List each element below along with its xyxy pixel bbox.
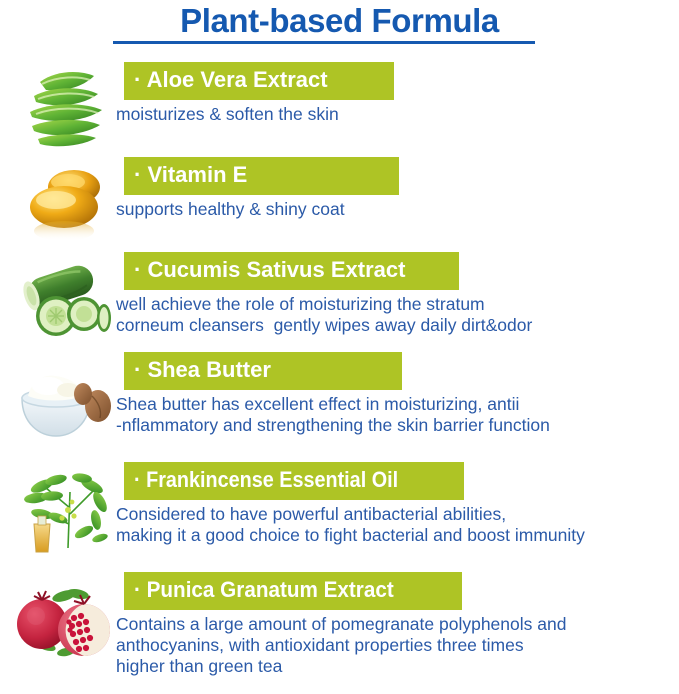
ingredient-badge-label: · Cucumis Sativus Extract [134,255,405,285]
ingredient-content: · Frankincense Essential Oil Considered … [124,462,679,546]
ingredient-content: · Vitamin E supports healthy & shiny coa… [124,157,679,220]
aloe-vera-leaves-image [12,62,120,158]
pomegranate-fruit-image [12,572,120,668]
ingredient-description: well achieve the role of moisturizing th… [116,290,679,336]
ingredient-description: Contains a large amount of pomegranate p… [116,610,679,677]
ingredient-description: Considered to have powerful antibacteria… [116,500,679,546]
frankincense-plant-oil-image [12,462,120,558]
ingredient-description: supports healthy & shiny coat [116,195,679,220]
shea-butter-bowl-image [12,352,120,448]
ingredient-badge-label: · Aloe Vera Extract [134,65,328,95]
ingredient-badge: · Vitamin E [124,157,399,195]
plant-based-formula-infographic: Plant-based Formula [0,0,679,694]
ingredient-badge-label: · Vitamin E [134,160,247,190]
ingredient-badge-label: · Punica Granatum Extract [134,575,394,605]
cucumber-slices-image [12,252,120,348]
ingredient-content: · Shea Butter Shea butter has excellent … [124,352,679,436]
ingredient-description: Shea butter has excellent effect in mois… [116,390,679,436]
ingredient-description: moisturizes & soften the skin [116,100,679,125]
ingredient-badge-label: · Shea Butter [134,355,271,385]
ingredient-content: · Punica Granatum Extract Contains a lar… [124,572,679,677]
title-underline [113,41,535,44]
page-title: Plant-based Formula [180,2,499,40]
ingredient-badge: · Aloe Vera Extract [124,62,394,100]
ingredient-badge: · Shea Butter [124,352,402,390]
vitamin-e-capsule-image [12,157,120,253]
ingredient-badge: · Frankincense Essential Oil [124,462,464,500]
ingredient-badge: · Cucumis Sativus Extract [124,252,459,290]
ingredient-badge: · Punica Granatum Extract [124,572,462,610]
ingredient-badge-label: · Frankincense Essential Oil [134,465,398,495]
ingredient-content: · Cucumis Sativus Extract well achieve t… [124,252,679,336]
ingredient-content: · Aloe Vera Extract moisturizes & soften… [124,62,679,125]
